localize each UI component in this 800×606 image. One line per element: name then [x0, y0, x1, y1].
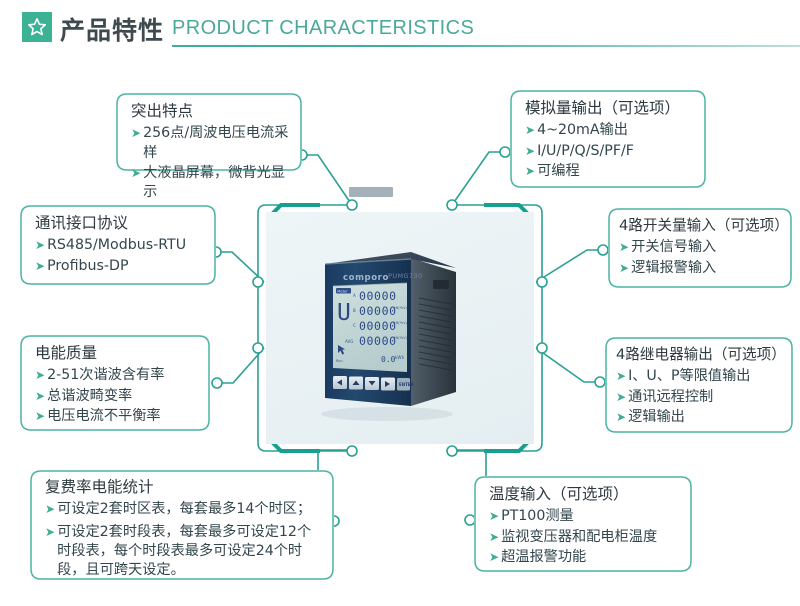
lcd-energy-unit: kWh [395, 355, 405, 360]
lcd-row-4: 00000 [359, 334, 397, 348]
box-title: 模拟量输出（可选项） [525, 99, 693, 118]
box-title: 温度输入（可选项） [489, 485, 679, 504]
box-title: 通讯接口协议 [35, 214, 203, 233]
bullet-arrow-icon: ➤ [616, 388, 626, 407]
svg-text:A: A [353, 293, 356, 298]
svg-text:I*N(*kV): I*N(*kV) [393, 306, 408, 310]
list-item: ➤ I/U/P/Q/S/PF/F [525, 142, 693, 161]
list-item-label: 开关信号输入 [631, 238, 779, 257]
svg-text:C: C [353, 323, 356, 328]
bullet-arrow-icon: ➤ [35, 387, 45, 406]
list-item-label: 通讯远程控制 [628, 388, 780, 407]
list-item: ➤ 监视变压器和配电柜温度 [489, 528, 679, 547]
bullet-arrow-icon: ➤ [525, 121, 535, 140]
box-title: 4路继电器输出（可选项） [616, 346, 780, 364]
lcd-row-1: 00000 [359, 289, 397, 303]
bullet-arrow-icon: ➤ [525, 142, 535, 161]
list-item: ➤ 大液晶屏幕，微背光显示 [131, 164, 289, 203]
list-item-label: 总谐波畸变率 [47, 387, 197, 406]
box-title: 突出特点 [131, 102, 289, 121]
bullet-arrow-icon: ➤ [525, 162, 535, 181]
svg-text:I*N(*kV): I*N(*kV) [393, 321, 408, 325]
svg-text:AVG: AVG [345, 339, 353, 344]
bullet-arrow-icon: ➤ [619, 238, 629, 257]
lcd-channel-label: U [337, 300, 351, 326]
box-analog-output[interactable]: 模拟量输出（可选项） ➤ 4~20mA输出 ➤ I/U/P/Q/S/PF/F ➤… [510, 90, 706, 188]
box-power-quality[interactable]: 电能质量 ➤ 2-51次谐波含有率 ➤ 总谐波畸变率 ➤ 电压电流不平衡率 [20, 335, 210, 431]
list-item: ➤ 逻辑报警输入 [619, 259, 779, 278]
list-item: ➤ 2-51次谐波含有率 [35, 366, 197, 385]
svg-text:B: B [353, 308, 356, 313]
bullet-arrow-icon: ➤ [45, 523, 55, 542]
bullet-arrow-icon: ➤ [131, 124, 141, 143]
star-badge-icon [22, 12, 52, 42]
page-title-en: PRODUCT CHARACTERISTICS [172, 17, 474, 40]
list-item-label: I/U/P/Q/S/PF/F [537, 142, 693, 161]
bullet-arrow-icon: ➤ [616, 367, 626, 386]
page-header: 产品特性 PRODUCT CHARACTERISTICS [0, 0, 800, 56]
bullet-arrow-icon: ➤ [35, 236, 45, 255]
bullet-arrow-icon: ➤ [35, 257, 45, 276]
bullet-arrow-icon: ➤ [35, 407, 45, 426]
svg-text:Run: Run [336, 359, 343, 363]
bullet-arrow-icon: ➤ [489, 507, 499, 526]
box-relay-output[interactable]: 4路继电器输出（可选项） ➤ I、U、P等限值输出 ➤ 通讯远程控制 ➤ 逻辑输… [605, 337, 793, 433]
bullet-arrow-icon: ➤ [35, 366, 45, 385]
list-item-label: 2-51次谐波含有率 [47, 366, 197, 385]
list-item: ➤ RS485/Modbus-RTU [35, 236, 203, 255]
svg-text:I*N(*kV): I*N(*kV) [393, 336, 408, 340]
device-keypad: ENTER [333, 376, 414, 391]
bullet-arrow-icon: ➤ [131, 164, 141, 183]
list-item: ➤ 逻辑输出 [616, 408, 780, 427]
list-item: ➤ 开关信号输入 [619, 238, 779, 257]
list-item-label: Profibus-DP [47, 257, 203, 276]
stage-top-shadow [349, 187, 393, 197]
bullet-arrow-icon: ➤ [45, 500, 55, 519]
list-item-label: 大液晶屏幕，微背光显示 [143, 164, 289, 203]
header-divider [172, 45, 800, 47]
list-item: ➤ I、U、P等限值输出 [616, 367, 780, 386]
box-digital-input[interactable]: 4路开关量输入（可选项） ➤ 开关信号输入 ➤ 逻辑报警输入 [608, 208, 792, 288]
list-item: ➤ 可设定2套时区表，每套最多14个时区； [45, 500, 321, 519]
lcd-mode-tag: Meter [337, 289, 348, 293]
lcd-row-2: 00000 [359, 304, 397, 318]
list-item: ➤ 可编程 [525, 162, 693, 181]
list-item-label: 监视变压器和配电柜温度 [501, 528, 679, 547]
list-item-label: RS485/Modbus-RTU [47, 236, 203, 255]
bullet-arrow-icon: ➤ [619, 259, 629, 278]
box-highlights[interactable]: 突出特点 ➤ 256点/周波电压电流采样 ➤ 大液晶屏幕，微背光显示 [116, 93, 302, 171]
box-multi-tariff-energy[interactable]: 复费率电能统计 ➤ 可设定2套时区表，每套最多14个时区； ➤ 可设定2套时段表… [30, 470, 334, 580]
box-title: 电能质量 [35, 344, 197, 363]
page-title-cn: 产品特性 [60, 11, 164, 47]
bullet-arrow-icon: ➤ [489, 548, 499, 567]
box-temperature-input[interactable]: 温度输入（可选项） ➤ PT100测量 ➤ 监视变压器和配电柜温度 ➤ 超温报警… [474, 476, 692, 572]
list-item: ➤ 256点/周波电压电流采样 [131, 124, 289, 163]
box-communication-protocol[interactable]: 通讯接口协议 ➤ RS485/Modbus-RTU ➤ Profibus-DP [20, 205, 216, 285]
list-item-label: 可编程 [537, 162, 693, 181]
list-item-label: 可设定2套时区表，每套最多14个时区； [57, 500, 321, 519]
bullet-arrow-icon: ➤ [489, 528, 499, 547]
box-title: 4路开关量输入（可选项） [619, 217, 779, 235]
list-item-label: 超温报警功能 [501, 548, 679, 567]
list-item-label: 4~20mA输出 [537, 121, 693, 140]
box-title: 复费率电能统计 [45, 478, 321, 497]
list-item: ➤ 总谐波畸变率 [35, 387, 197, 406]
list-item-label: 电压电流不平衡率 [47, 407, 197, 426]
list-item: ➤ 电压电流不平衡率 [35, 407, 197, 426]
svg-text:ENTER: ENTER [399, 382, 414, 387]
list-item: ➤ 通讯远程控制 [616, 388, 780, 407]
lcd-energy-value: 0.0 [381, 355, 396, 364]
list-item-label: 逻辑输出 [628, 408, 780, 427]
list-item: ➤ Profibus-DP [35, 257, 203, 276]
list-item: ➤ 超温报警功能 [489, 548, 679, 567]
product-device-image: comporo PUMG730 Meter U 00000 00000 0000… [315, 242, 490, 422]
bullet-arrow-icon: ➤ [616, 408, 626, 427]
lcd-row-3: 00000 [359, 319, 397, 333]
list-item: ➤ 4~20mA输出 [525, 121, 693, 140]
device-brand-text: comporo [343, 273, 389, 283]
list-item-label: 逻辑报警输入 [631, 259, 779, 278]
list-item: ➤ PT100测量 [489, 507, 679, 526]
list-item: ➤ 可设定2套时段表，每套最多可设定12个时段表，每个时段表最多可设定24个时段… [45, 523, 321, 581]
list-item-label: PT100测量 [501, 507, 679, 526]
list-item-label: 可设定2套时段表，每套最多可设定12个时段表，每个时段表最多可设定24个时段，且… [57, 523, 321, 581]
list-item-label: I、U、P等限值输出 [628, 367, 780, 386]
device-model-text: PUMG730 [388, 272, 423, 280]
list-item-label: 256点/周波电压电流采样 [143, 124, 289, 163]
